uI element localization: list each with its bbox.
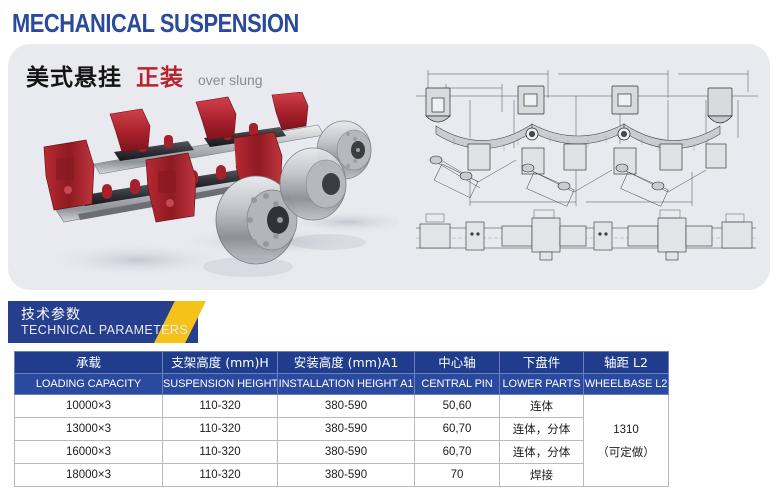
technical-parameters-table: 承载 支架高度 (mm)H 安装高度 (mm)A1 中心轴 下盘件 轴距 L2 … — [14, 351, 669, 487]
cell-installation-height: 380-590 — [278, 395, 415, 418]
cell-central-pin: 60,70 — [415, 441, 500, 464]
th-en-central-pin: CENTRAL PIN — [415, 374, 500, 395]
table-header-row-en: LOADING CAPACITY SUSPENSION HEIGHT INSTA… — [15, 374, 669, 395]
hero-card: 美式悬挂 正装 over slung — [8, 44, 770, 290]
th-cn-lower-parts: 下盘件 — [500, 352, 584, 374]
banner-title-en: TECHNICAL PARAMETERS — [21, 323, 188, 337]
wheelbase-note: （可定做） — [584, 441, 668, 463]
cell-installation-height: 380-590 — [278, 418, 415, 441]
cell-loading-capacity: 16000×3 — [15, 441, 163, 464]
th-cn-central-pin: 中心轴 — [415, 352, 500, 374]
th-en-suspension-height: SUSPENSION HEIGHT — [163, 374, 278, 395]
th-en-loading-capacity: LOADING CAPACITY — [15, 374, 163, 395]
page-title: MECHANICAL SUSPENSION — [12, 8, 299, 39]
hero-heading-cn-red: 正装 — [136, 58, 184, 92]
th-cn-loading-capacity: 承载 — [15, 352, 163, 374]
hero-heading: 美式悬挂 正装 over slung — [26, 58, 263, 92]
cell-central-pin: 70 — [415, 464, 500, 487]
cell-installation-height: 380-590 — [278, 464, 415, 487]
page-root: MECHANICAL SUSPENSION 美式悬挂 正装 over slung — [0, 0, 780, 500]
cell-loading-capacity: 10000×3 — [15, 395, 163, 418]
th-cn-installation-height: 安装高度 (mm)A1 — [278, 352, 415, 374]
cell-lower-parts: 焊接 — [500, 464, 584, 487]
cell-installation-height: 380-590 — [278, 441, 415, 464]
cell-lower-parts: 连体，分体 — [500, 441, 584, 464]
table-row: 16000×3 110-320 380-590 60,70 连体，分体 — [15, 441, 669, 464]
table-header-row-cn: 承载 支架高度 (mm)H 安装高度 (mm)A1 中心轴 下盘件 轴距 L2 — [15, 352, 669, 374]
cell-loading-capacity: 13000×3 — [15, 418, 163, 441]
cell-loading-capacity: 18000×3 — [15, 464, 163, 487]
table-body: 10000×3 110-320 380-590 50,60 连体 1310 （可… — [15, 395, 669, 487]
banner-title-cn: 技术参数 — [21, 304, 81, 324]
cell-wheelbase: 1310 （可定做） — [584, 395, 669, 487]
cell-lower-parts: 连体，分体 — [500, 418, 584, 441]
cell-lower-parts: 连体 — [500, 395, 584, 418]
table-header: 承载 支架高度 (mm)H 安装高度 (mm)A1 中心轴 下盘件 轴距 L2 … — [15, 352, 669, 395]
table-row: 10000×3 110-320 380-590 50,60 连体 1310 （可… — [15, 395, 669, 418]
th-cn-suspension-height: 支架高度 (mm)H — [163, 352, 278, 374]
cell-suspension-height: 110-320 — [163, 441, 278, 464]
cell-suspension-height: 110-320 — [163, 418, 278, 441]
cell-suspension-height: 110-320 — [163, 464, 278, 487]
th-cn-wheelbase: 轴距 L2 — [584, 352, 669, 374]
cell-central-pin: 50,60 — [415, 395, 500, 418]
cell-central-pin: 60,70 — [415, 418, 500, 441]
table-row: 13000×3 110-320 380-590 60,70 连体，分体 — [15, 418, 669, 441]
hero-heading-cn: 美式悬挂 — [26, 58, 122, 92]
product-photo — [18, 92, 398, 282]
wheelbase-value: 1310 — [584, 419, 668, 441]
th-en-lower-parts: LOWER PARTS — [500, 374, 584, 395]
th-en-installation-height: INSTALLATION HEIGHT A1 — [278, 374, 415, 395]
th-en-wheelbase: WHEELBASE L2 — [584, 374, 669, 395]
section-banner: 技术参数 TECHNICAL PARAMETERS — [8, 301, 198, 343]
technical-drawing — [406, 52, 766, 282]
cell-suspension-height: 110-320 — [163, 395, 278, 418]
table-row: 18000×3 110-320 380-590 70 焊接 — [15, 464, 669, 487]
hero-heading-en: over slung — [198, 72, 263, 88]
